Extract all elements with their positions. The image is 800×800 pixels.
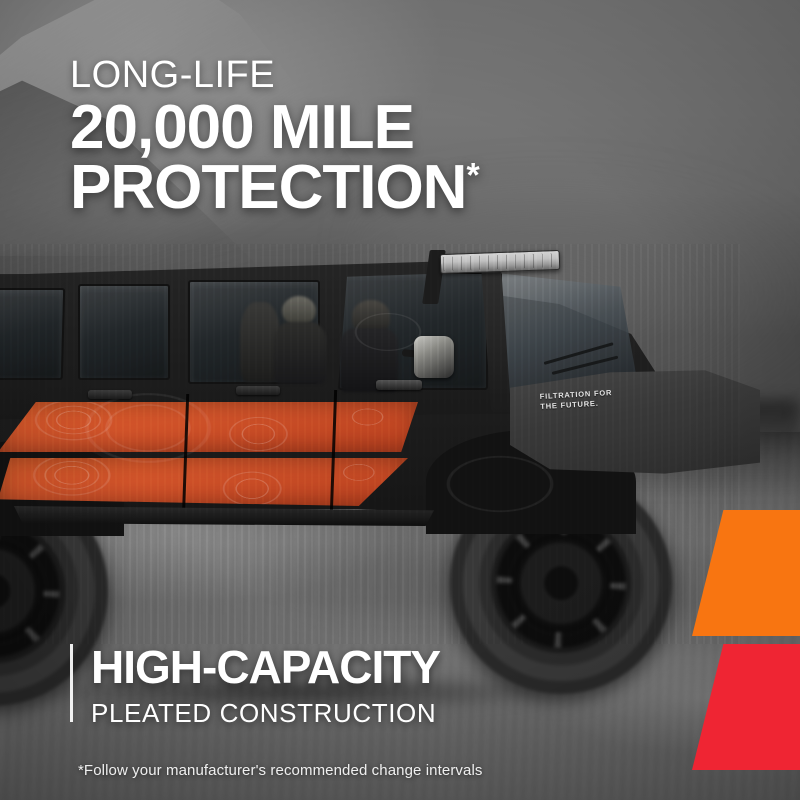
- subhead-text-group: HIGH-CAPACITY PLEATED CONSTRUCTION: [91, 644, 440, 726]
- advertisement-canvas: FILTRATION FOR THE FUTURE. K& N.: [0, 0, 800, 800]
- headline-asterisk: *: [466, 156, 478, 194]
- headline-line-1: 20,000 MILE: [70, 98, 479, 158]
- headline-block: LONG-LIFE 20,000 MILE PROTECTION*: [70, 56, 479, 218]
- subhead-block: HIGH-CAPACITY PLEATED CONSTRUCTION: [70, 644, 440, 726]
- headline-main: 20,000 MILE PROTECTION*: [70, 98, 479, 218]
- headline-line-2-text: PROTECTION: [70, 153, 466, 222]
- footnote-disclaimer: *Follow your manufacturer's recommended …: [78, 762, 482, 779]
- headline-line-2: PROTECTION*: [70, 158, 479, 218]
- subhead-accent-rule: [70, 644, 73, 722]
- subhead-main: HIGH-CAPACITY: [91, 644, 440, 690]
- subhead-sub: PLEATED CONSTRUCTION: [91, 700, 440, 726]
- headline-eyebrow: LONG-LIFE: [70, 56, 479, 94]
